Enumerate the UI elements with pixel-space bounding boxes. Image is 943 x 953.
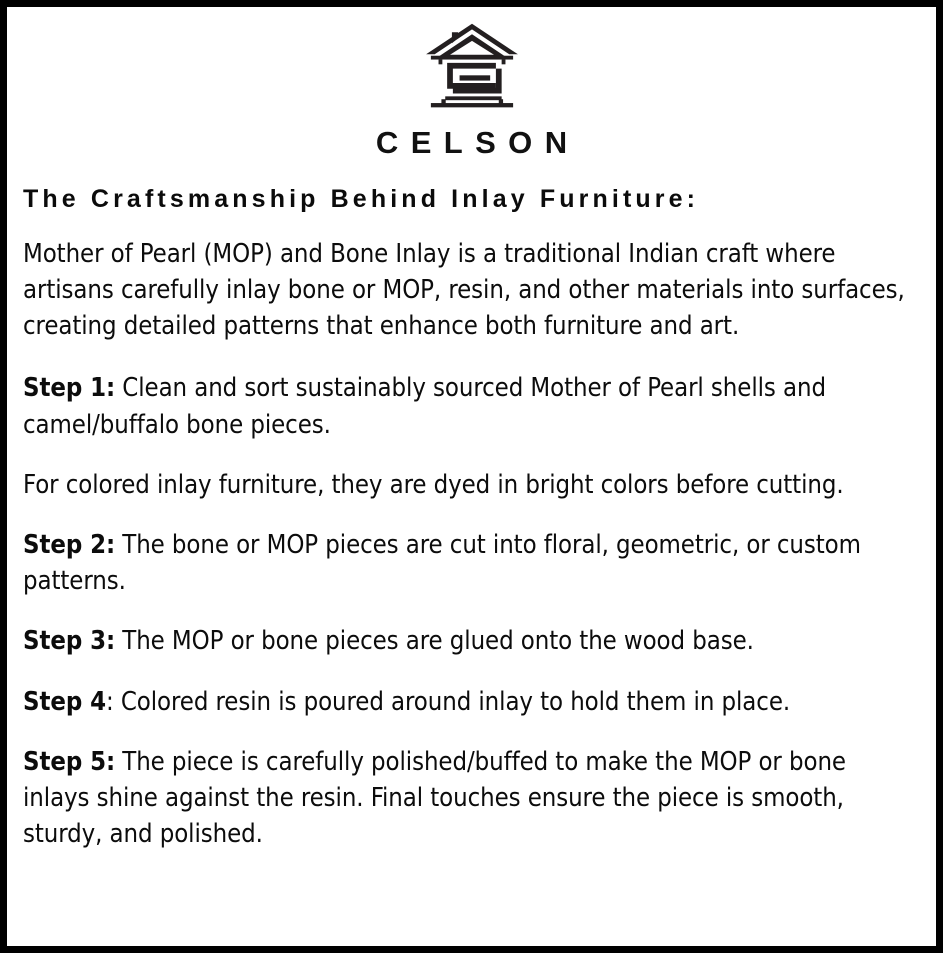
step-4-label: Step 4 bbox=[23, 687, 106, 717]
house-monogram-icon bbox=[424, 17, 520, 115]
poster-card: CELSON The Craftsmanship Behind Inlay Fu… bbox=[0, 0, 943, 953]
paragraph-step-5: Step 5: The piece is carefully polished/… bbox=[23, 744, 913, 853]
step-3-text: The MOP or bone pieces are glued onto th… bbox=[115, 626, 754, 656]
paragraph-step-2: Step 2: The bone or MOP pieces are cut i… bbox=[23, 527, 913, 599]
article-body: Mother of Pearl (MOP) and Bone Inlay is … bbox=[23, 236, 920, 853]
step-2-text: The bone or MOP pieces are cut into flor… bbox=[23, 530, 861, 596]
step-3-label: Step 3: bbox=[23, 626, 115, 656]
brand-block: CELSON bbox=[23, 15, 920, 158]
paragraph-step-1: Step 1: Clean and sort sustainably sourc… bbox=[23, 370, 913, 442]
step-1-text: Clean and sort sustainably sourced Mothe… bbox=[23, 373, 826, 439]
step-2-label: Step 2: bbox=[23, 530, 115, 560]
brand-name: CELSON bbox=[23, 127, 920, 158]
step-5-label: Step 5: bbox=[23, 747, 115, 777]
page-title: The Craftsmanship Behind Inlay Furniture… bbox=[23, 185, 920, 214]
paragraph-note: For colored inlay furniture, they are dy… bbox=[23, 467, 913, 503]
poster-content: CELSON The Craftsmanship Behind Inlay Fu… bbox=[7, 7, 936, 946]
paragraph-step-3: Step 3: The MOP or bone pieces are glued… bbox=[23, 623, 913, 659]
paragraph-intro: Mother of Pearl (MOP) and Bone Inlay is … bbox=[23, 236, 913, 345]
step-4-colon: : bbox=[106, 687, 114, 717]
step-5-text: The piece is carefully polished/buffed t… bbox=[23, 747, 846, 849]
paragraph-step-4: Step 4: Colored resin is poured around i… bbox=[23, 684, 913, 720]
step-4-text: Colored resin is poured around inlay to … bbox=[114, 687, 790, 717]
step-1-label: Step 1: bbox=[23, 373, 115, 403]
